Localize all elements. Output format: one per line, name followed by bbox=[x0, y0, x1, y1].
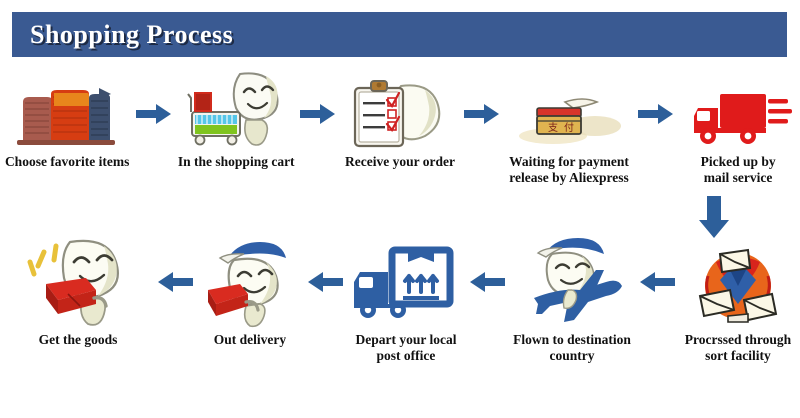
svg-text:付: 付 bbox=[564, 121, 574, 134]
courier-character-with-box-icon bbox=[194, 236, 306, 328]
flow-step-choose-items[interactable]: Choose favorite items bbox=[0, 78, 134, 170]
flow-step-label: Procrssed through sort facility bbox=[685, 332, 791, 365]
flow-arrow-down-connector bbox=[694, 196, 734, 240]
flow-step-sort-facility[interactable]: Procrssed through sort facility bbox=[676, 236, 800, 365]
flow-step-label: Out delivery bbox=[214, 332, 286, 348]
flow-arrow-right-1 bbox=[134, 78, 174, 150]
payment-stamp-icon: 支 付 bbox=[509, 78, 629, 150]
flow-step-picked-up[interactable]: Picked up by mail service bbox=[676, 78, 800, 187]
character-pushing-cart-icon bbox=[178, 78, 294, 150]
flow-arrow-left-4 bbox=[638, 236, 676, 328]
flow-step-label: Flown to destination country bbox=[513, 332, 631, 365]
flow-step-shopping-cart[interactable]: In the shopping cart bbox=[174, 78, 298, 170]
clipboard-checklist-icon bbox=[345, 78, 455, 150]
flow-step-receive-order[interactable]: Receive your order bbox=[338, 78, 462, 170]
mail-sorting-bundle-icon bbox=[686, 236, 790, 328]
flow-step-get-goods[interactable]: Get the goods bbox=[0, 236, 156, 348]
flow-arrow-left-1 bbox=[156, 236, 194, 328]
flow-row-bottom: Get the goods Out delivery bbox=[0, 236, 800, 396]
flow-step-label: Picked up by mail service bbox=[701, 154, 776, 187]
flow-row-top: Choose favorite items bbox=[0, 78, 800, 196]
page-title: Shopping Process bbox=[30, 20, 233, 50]
happy-character-with-box-icon bbox=[8, 236, 148, 328]
svg-text:支: 支 bbox=[548, 122, 558, 134]
flow-arrow-right-3 bbox=[462, 78, 502, 150]
flow-step-waiting-payment[interactable]: 支 付 Waiting for payment release by Aliex… bbox=[502, 78, 636, 187]
flow-arrow-left-2 bbox=[306, 236, 344, 328]
header-banner: Shopping Process bbox=[12, 12, 787, 57]
stacked-books-icon bbox=[13, 78, 121, 150]
red-delivery-truck-icon bbox=[684, 78, 792, 150]
flow-step-label: Waiting for payment release by Aliexpres… bbox=[509, 154, 629, 187]
character-on-airplane-icon bbox=[506, 236, 638, 328]
flow-step-flown-destination[interactable]: Flown to destination country bbox=[506, 236, 638, 365]
flow-step-label: In the shopping cart bbox=[178, 154, 295, 170]
flow-step-label: Get the goods bbox=[39, 332, 118, 348]
flow-arrow-right-4 bbox=[636, 78, 676, 150]
flow-step-label: Receive your order bbox=[345, 154, 455, 170]
flow-step-label: Choose favorite items bbox=[5, 154, 129, 170]
flow-arrow-right-2 bbox=[298, 78, 338, 150]
flow-step-label: Depart your local post office bbox=[355, 332, 456, 365]
blue-truck-with-package-icon bbox=[348, 236, 464, 328]
flow-step-out-delivery[interactable]: Out delivery bbox=[194, 236, 306, 348]
flow-arrow-left-3 bbox=[468, 236, 506, 328]
flow-step-depart-post-office[interactable]: Depart your local post office bbox=[344, 236, 468, 365]
